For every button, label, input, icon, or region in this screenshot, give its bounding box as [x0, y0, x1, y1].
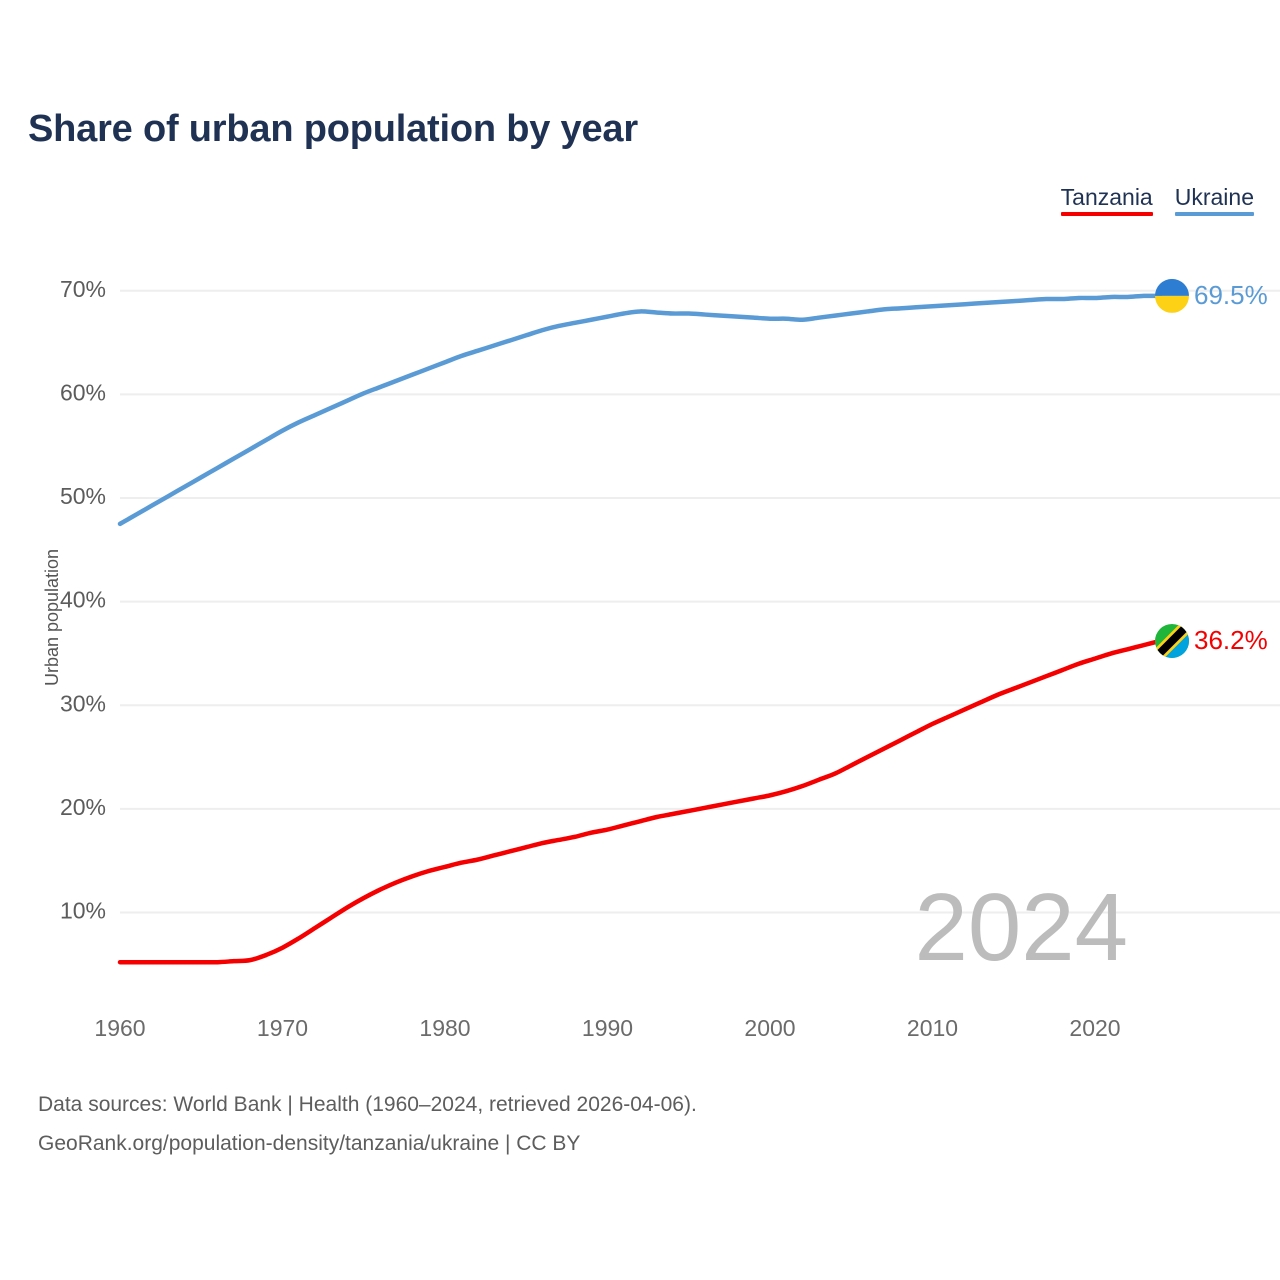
footer-line-url: GeoRank.org/population-density/tanzania/… [38, 1124, 697, 1163]
end-label-tanzania: 36.2% [1194, 625, 1268, 655]
svg-text:40%: 40% [60, 587, 106, 613]
svg-text:10%: 10% [60, 898, 106, 924]
svg-text:1990: 1990 [582, 1015, 633, 1041]
y-axis-label: Urban population [42, 549, 62, 686]
svg-text:2020: 2020 [1069, 1015, 1120, 1041]
svg-text:50%: 50% [60, 483, 106, 509]
footer-attribution: Data sources: World Bank | Health (1960–… [38, 1085, 697, 1163]
gridlines [120, 291, 1280, 913]
svg-text:1980: 1980 [419, 1015, 470, 1041]
svg-text:30%: 30% [60, 690, 106, 716]
x-axis-ticks: 1960197019801990200020102020 [94, 1015, 1120, 1041]
footer-line-sources: Data sources: World Bank | Health (1960–… [38, 1085, 697, 1124]
y-axis-ticks: 10%20%30%40%50%60%70% [60, 276, 106, 924]
end-label-ukraine: 69.5% [1194, 280, 1268, 310]
svg-text:1970: 1970 [257, 1015, 308, 1041]
svg-text:2010: 2010 [907, 1015, 958, 1041]
year-watermark: 2024 [914, 874, 1128, 981]
svg-text:1960: 1960 [94, 1015, 145, 1041]
svg-text:20%: 20% [60, 794, 106, 820]
svg-text:70%: 70% [60, 276, 106, 302]
svg-text:2000: 2000 [744, 1015, 795, 1041]
svg-text:60%: 60% [60, 379, 106, 405]
data-series [120, 296, 1160, 962]
